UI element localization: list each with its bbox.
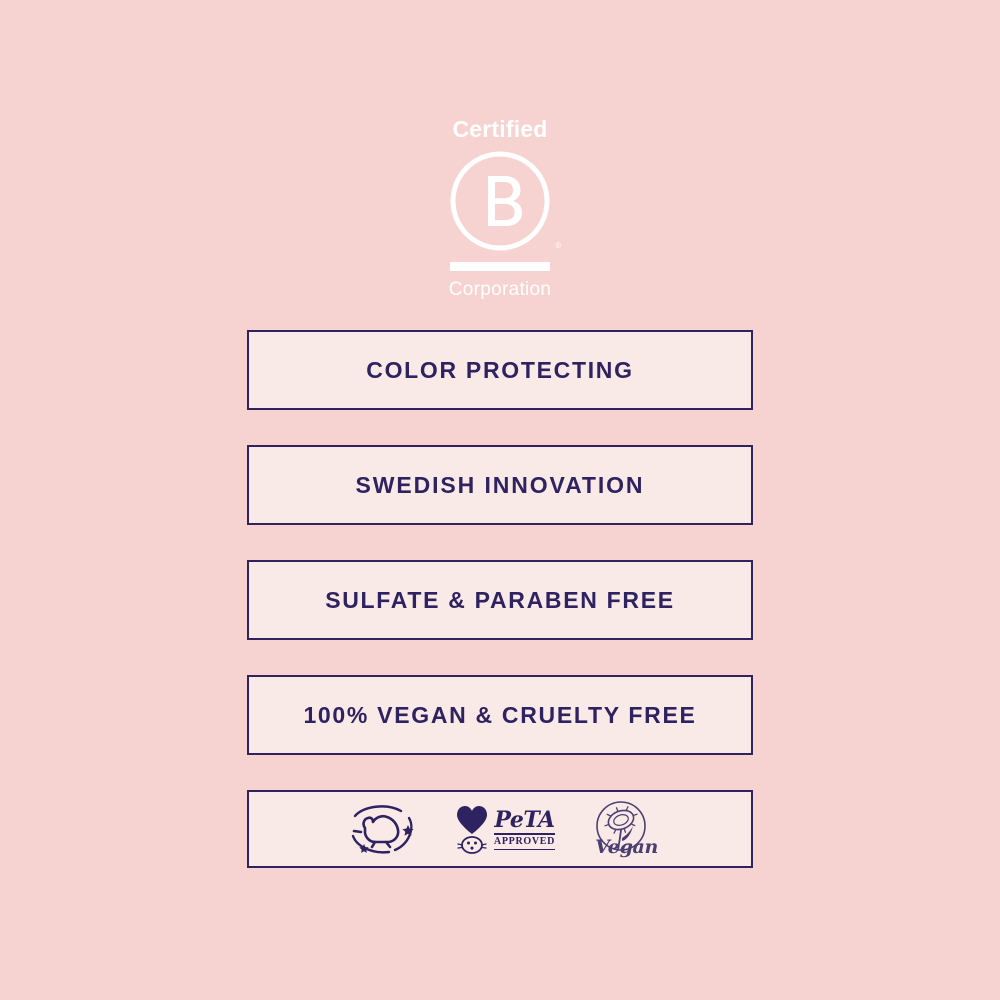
b-corp-registered-mark: ® [555, 242, 561, 250]
peta-bunny-heart-icon [455, 804, 489, 854]
peta-approved-label: APPROVED [494, 837, 555, 847]
product-claims-list: COLOR PROTECTING SWEDISH INNOVATION SULF… [247, 330, 753, 868]
peta-wordmark: PeTA [494, 809, 554, 831]
peta-approved-logo: PeTA APPROVED [455, 799, 555, 859]
claim-box-swedish-innovation: SWEDISH INNOVATION [247, 445, 753, 525]
claim-label: 100% VEGAN & CRUELTY FREE [303, 702, 696, 729]
certification-logos-box: PeTA APPROVED [247, 790, 753, 868]
leaping-bunny-logo [345, 799, 419, 859]
b-corp-divider-bar [450, 262, 550, 271]
claim-label: SULFATE & PARABEN FREE [325, 587, 675, 614]
peta-rule [494, 833, 555, 835]
claim-label: COLOR PROTECTING [366, 357, 633, 384]
b-corp-certified-label: Certified [452, 118, 547, 141]
b-corp-certification-badge: Certified ® Corporation [0, 118, 1000, 299]
b-corp-corporation-label: Corporation [449, 280, 552, 299]
vegan-wordmark: Vegan [595, 838, 658, 857]
peta-underline [494, 849, 555, 850]
claim-label: SWEDISH INNOVATION [356, 472, 645, 499]
claim-box-color-protecting: COLOR PROTECTING [247, 330, 753, 410]
b-corp-circle-b-icon: ® [448, 149, 552, 253]
vegan-society-logo: Vegan [591, 799, 655, 859]
claim-box-sulfate-paraben-free: SULFATE & PARABEN FREE [247, 560, 753, 640]
claim-box-vegan-cruelty-free: 100% VEGAN & CRUELTY FREE [247, 675, 753, 755]
